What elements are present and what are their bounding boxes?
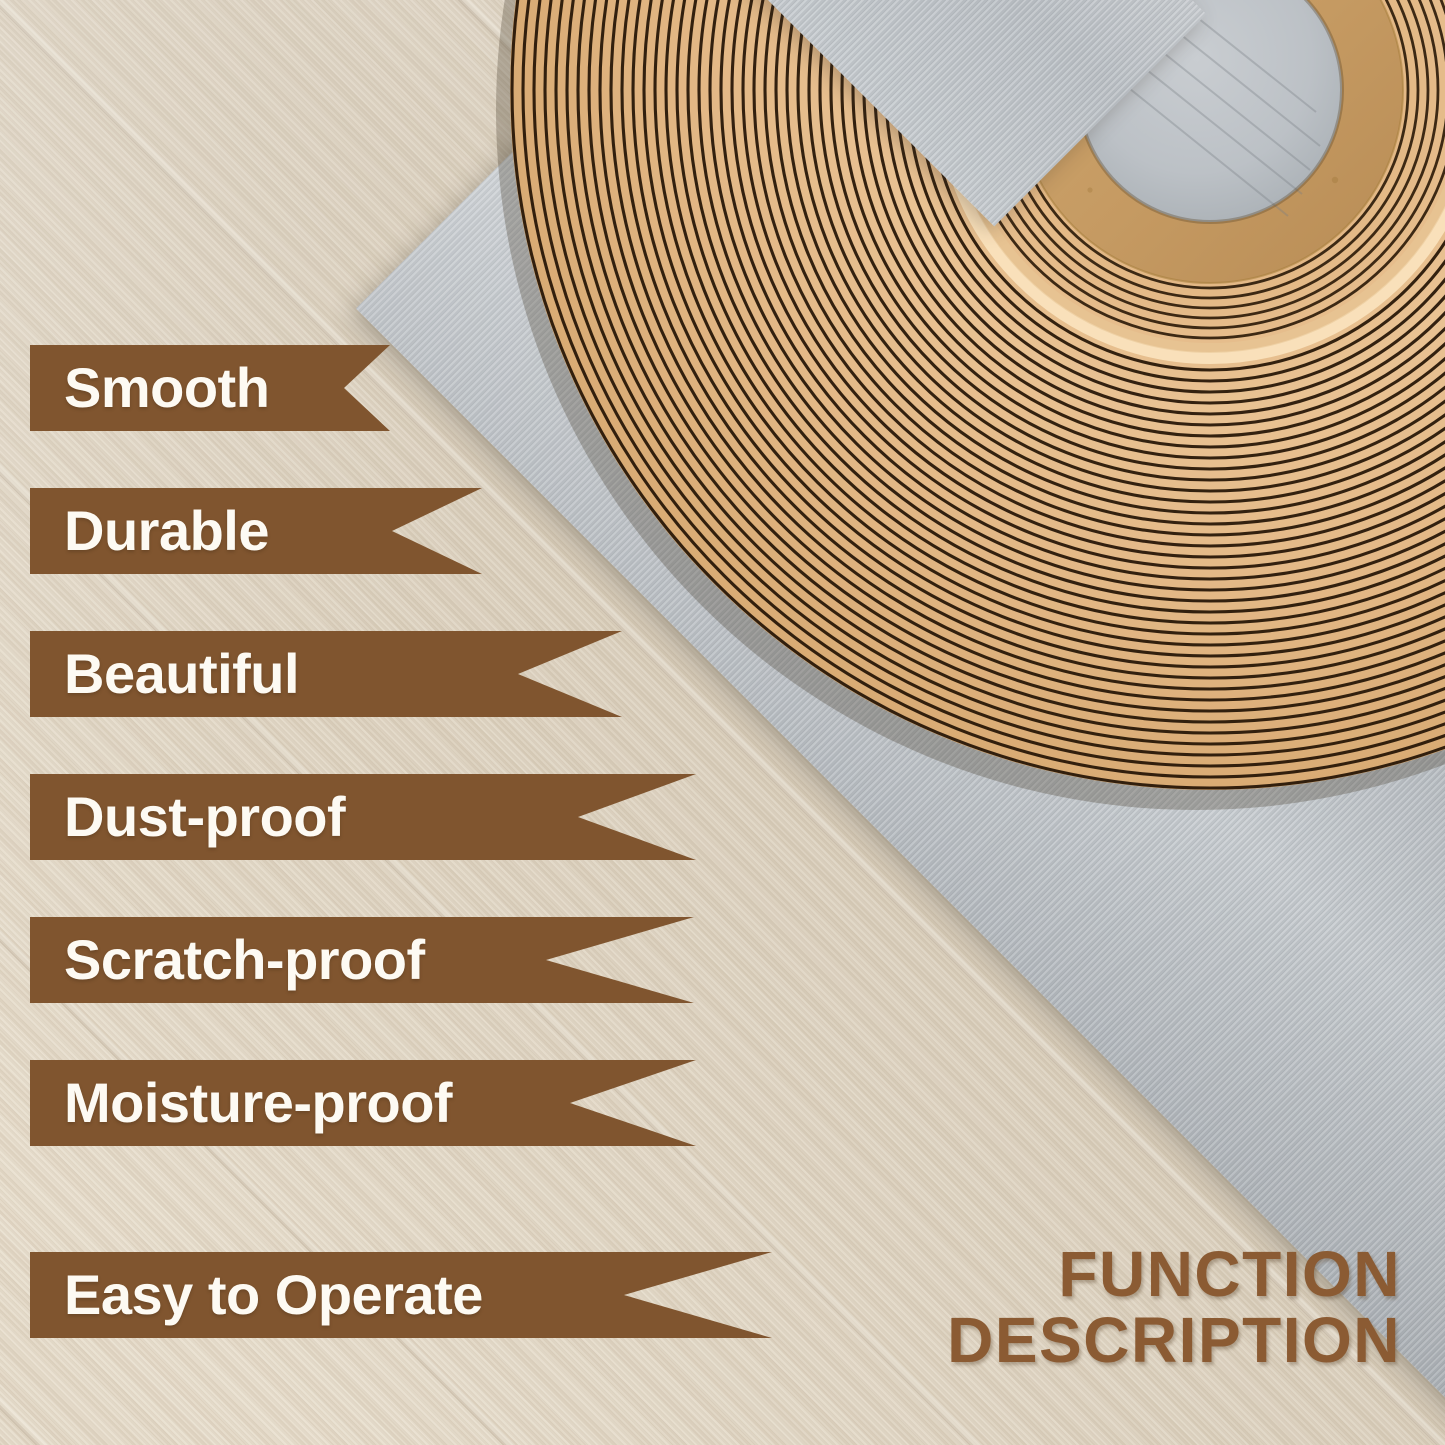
feature-banner[interactable]: Smooth: [30, 345, 390, 431]
heading-line-2: DESCRIPTION: [947, 1308, 1401, 1373]
heading-line-1: FUNCTION: [947, 1242, 1401, 1307]
feature-banner-list: Smooth Durable Beautiful Dust-proof Scra…: [0, 0, 1445, 1445]
feature-label: Scratch-proof: [30, 932, 425, 988]
product-feature-image: Smooth Durable Beautiful Dust-proof Scra…: [0, 0, 1445, 1445]
feature-label: Durable: [30, 503, 269, 559]
feature-banner[interactable]: Easy to Operate: [30, 1252, 772, 1338]
feature-label: Easy to Operate: [30, 1267, 483, 1323]
feature-banner[interactable]: Dust-proof: [30, 774, 696, 860]
feature-label: Moisture-proof: [30, 1075, 452, 1131]
feature-banner[interactable]: Beautiful: [30, 631, 622, 717]
function-description-heading: FUNCTION DESCRIPTION: [947, 1242, 1401, 1373]
feature-banner[interactable]: Durable: [30, 488, 482, 574]
feature-banner[interactable]: Scratch-proof: [30, 917, 694, 1003]
feature-label: Dust-proof: [30, 789, 345, 845]
feature-label: Beautiful: [30, 646, 299, 702]
feature-label: Smooth: [30, 360, 269, 416]
feature-banner[interactable]: Moisture-proof: [30, 1060, 696, 1146]
